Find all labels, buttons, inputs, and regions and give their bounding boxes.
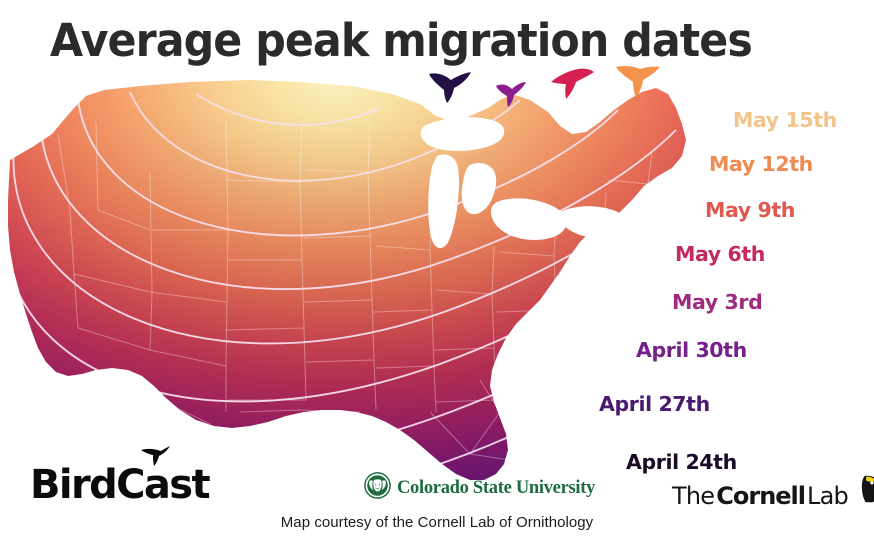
bird-flying-icon [140,446,170,471]
date-label-may-15: May 15th [733,108,837,132]
date-label-text: April 27th [599,392,710,416]
date-label-text: April 24th [626,450,737,474]
date-label-april-27: April 27th [599,392,710,416]
page-title: Average peak migration dates [50,16,752,66]
colorado-state-university-text: Colorado State University [397,478,595,499]
date-label-text: May 9th [705,198,795,222]
date-label-april-24: April 24th [626,450,737,474]
bird-silhouette-crimson [548,66,596,100]
date-label-text: May 3rd [672,290,762,314]
bird-silhouette-orange [615,63,661,99]
date-label-may-6: May 6th [675,242,765,266]
date-label-text: May 6th [675,242,765,266]
bird-silhouette-purple [495,80,527,108]
migration-map-infographic: Average peak migration dates [0,0,874,551]
date-label-text: May 12th [709,152,813,176]
ram-head-icon [364,472,391,504]
cornell-the-text: The [672,482,714,510]
map-caption: Map courtesy of the Cornell Lab of Ornit… [0,514,874,531]
cornell-name-text: Cornell [716,482,805,510]
date-label-may-9: May 9th [705,198,795,222]
woodpecker-icon [853,474,874,509]
date-label-may-12: May 12th [709,152,813,176]
cornell-lab-logo[interactable]: The Cornell Lab [672,474,874,510]
date-label-text: April 30th [636,338,747,362]
date-label-text: May 15th [733,108,837,132]
bird-silhouette-navy [427,68,473,104]
date-label-may-3: May 3rd [672,290,762,314]
cornell-lab-text: Lab [807,482,848,510]
birdcast-logo[interactable]: BirdCast [30,462,209,508]
date-label-april-30: April 30th [636,338,747,362]
colorado-state-university-logo[interactable]: Colorado State University [364,472,595,504]
